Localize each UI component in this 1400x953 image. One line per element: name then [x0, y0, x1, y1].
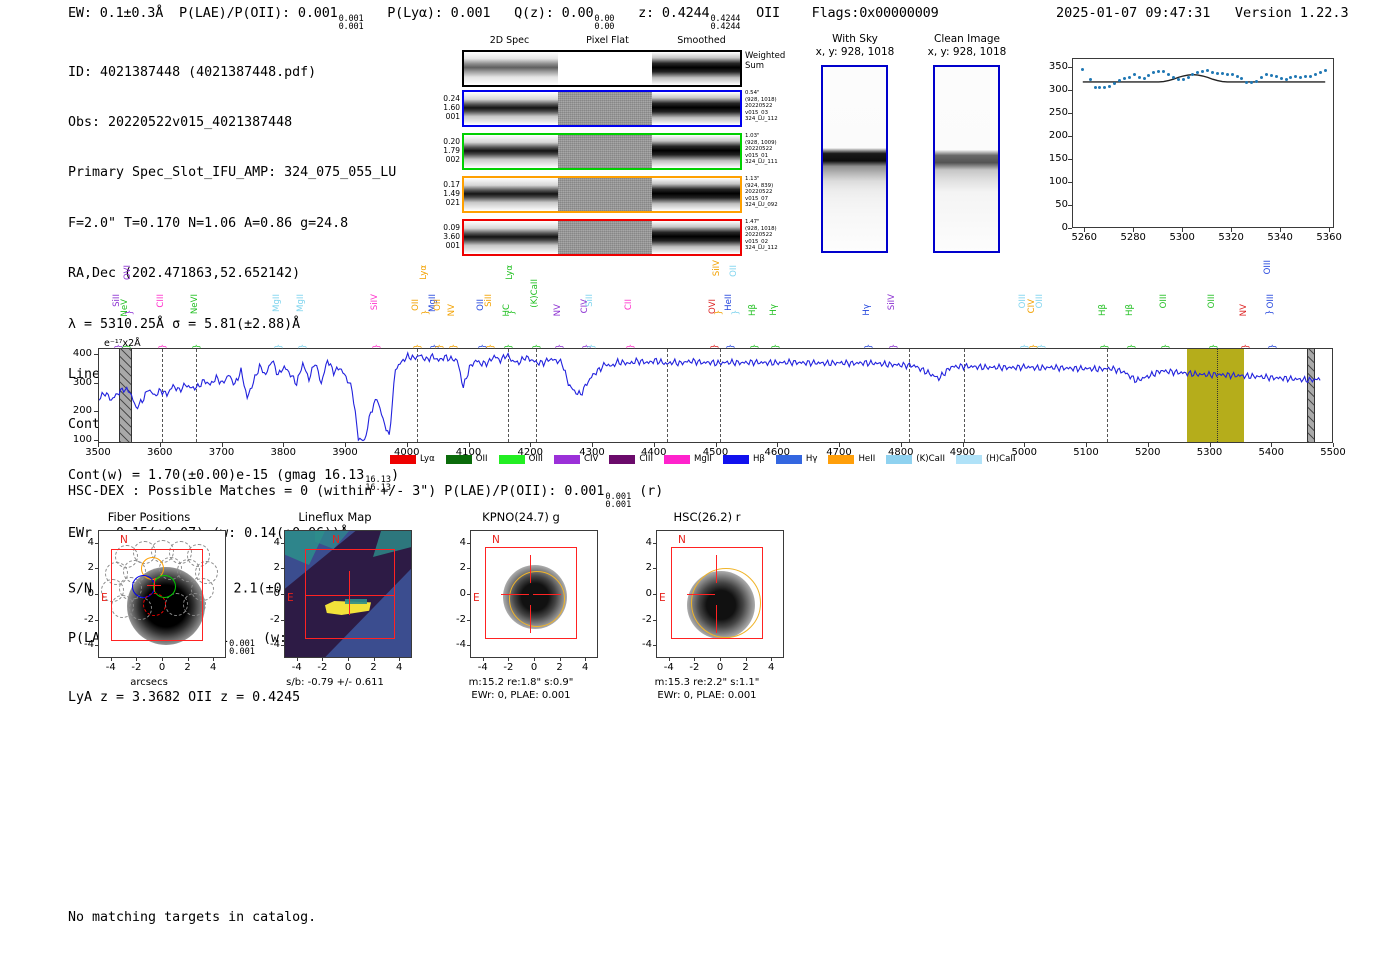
weighted-sum-smoothed [652, 52, 740, 85]
zoom-data-point [1226, 73, 1229, 76]
spectrum-units-label: e⁻¹⁷x2Å [104, 338, 141, 349]
panel-ytick: -2 [440, 614, 466, 625]
emission-line-label: CII [624, 299, 634, 310]
header-qz: Q(z): 0.00 [514, 5, 593, 21]
legend-swatch [609, 455, 635, 464]
emission-line-brace: { [433, 344, 442, 350]
info-id: ID: 4021387448 (4021387448.pdf) [68, 65, 399, 82]
zoom-data-point [1089, 78, 1092, 81]
zoom-ytick: 50 [1038, 199, 1068, 210]
legend-label: CIV [584, 454, 598, 464]
fiber-left-labels-2: 0.201.79002 [432, 138, 460, 164]
legend-item: OIII [499, 454, 543, 464]
emission-line-brace: { [1160, 344, 1169, 350]
legend-label: OIII [529, 454, 543, 464]
zoom-xtick: 5360 [1311, 232, 1347, 243]
emission-line-label: OIII [1035, 294, 1045, 308]
clean-image-title: Clean Image x, y: 928, 1018 [912, 33, 1022, 58]
panel-ytick: 4 [68, 537, 94, 548]
emission-line-label: OIII [1263, 260, 1273, 274]
fiber-1-2dspec [464, 92, 558, 125]
version-label: Version 1.22.3 [1235, 5, 1349, 21]
hsc-aperture-circle [691, 568, 761, 638]
fiber-2-pixelflat [558, 135, 652, 168]
zoom-data-point [1280, 77, 1283, 80]
panel-xtick: 4 [385, 662, 413, 673]
info-primary-spec-slot: Primary Spec_Slot_IFU_AMP: 324_075_055_L… [68, 165, 399, 182]
fiber-row-3 [462, 176, 742, 213]
emission-line-label: Hγ [862, 304, 872, 316]
header-summary-line: EW: 0.1±0.3Å P(LAE)/P(OII): 0.0010.0010.… [68, 5, 939, 31]
zoom-data-point [1211, 71, 1214, 74]
zoom-data-point [1108, 85, 1111, 88]
emission-line-label: MgII [272, 294, 282, 312]
emission-line-label: OII [433, 299, 443, 311]
fiber-2-2dspec [464, 135, 558, 168]
panel-xtick: 2 [174, 662, 202, 673]
panel-ytick: 4 [626, 537, 652, 548]
zoom-data-point [1270, 74, 1273, 77]
emission-line-brace: { [724, 344, 733, 350]
zoom-data-point [1187, 76, 1190, 79]
panel-kpno-g: KPNO(24.7) g N E m:15.2 re:1.8" s:0.9" E… [432, 510, 610, 740]
hscdex-post: (r) [631, 484, 663, 499]
emission-line-brace: { [156, 344, 165, 350]
spectrum-xtick: 5500 [1313, 447, 1353, 458]
zoom-data-point [1162, 70, 1165, 73]
fiber-right-labels-3: 1.13"(924, 839)20220522v015_07324_LU_092 [745, 176, 795, 209]
legend-label: CIII [639, 454, 653, 464]
legend-item: (K)CaII [886, 454, 945, 464]
zoom-xtick: 5320 [1213, 232, 1249, 243]
legend-item: Hγ [776, 454, 818, 464]
spectrum-xtick: 5300 [1190, 447, 1230, 458]
emission-line-brace: { [484, 344, 493, 350]
emission-line-label: SiII [585, 294, 595, 307]
emission-line-brace: { [769, 344, 778, 350]
zoom-data-point [1167, 73, 1170, 76]
legend-label: (K)CaII [916, 454, 945, 464]
emission-line-label: OVI [123, 265, 133, 280]
panel-ytick: -2 [626, 614, 652, 625]
zoom-data-point [1260, 76, 1263, 79]
panel-ytick: 0 [440, 588, 466, 599]
hscdex-text: HSC-DEX : Possible Matches = 0 (within +… [68, 484, 604, 499]
emission-line-label: Hγ [769, 304, 779, 316]
zoom-data-point [1133, 73, 1136, 76]
legend-label: Hβ [753, 454, 765, 464]
hsc-dex-match-line: HSC-DEX : Possible Matches = 0 (within +… [68, 484, 663, 509]
north-label: N [332, 534, 340, 546]
fiber-3-pixelflat [558, 178, 652, 211]
panel-ytick: 0 [626, 588, 652, 599]
emission-line-brace: { [862, 344, 871, 350]
emission-line-label: NV [447, 304, 457, 316]
fiber-right-labels-4: 1.47"(928, 1018)20220522v015_02324_LU_11… [745, 219, 795, 252]
emission-line-brace: { [1036, 344, 1045, 350]
fiber-2-smoothed [652, 135, 740, 168]
footer-line-1: No matching targets in catalog. [68, 909, 316, 926]
panel-ytick: 2 [254, 562, 280, 573]
emission-line-label: Lyα [505, 265, 515, 280]
lineflux-map-plot [284, 530, 412, 658]
zoom-data-point [1138, 76, 1141, 79]
panel-xtick: -4 [469, 662, 497, 673]
fiber-redbox [111, 549, 203, 641]
legend-item: CIII [609, 454, 653, 464]
fiber-right-labels-2: 1.03"(928, 1009)20220522v015_01324_LU_11… [745, 133, 795, 166]
legend-swatch [828, 455, 854, 464]
emission-line-brace: { [506, 310, 515, 316]
legend-item: OII [446, 454, 488, 464]
east-label: E [473, 592, 480, 604]
zoom-data-point [1177, 78, 1180, 81]
spectrum-ytick: 100 [60, 434, 92, 445]
zoom-data-point [1231, 73, 1234, 76]
spectrum-ytick: 400 [60, 348, 92, 359]
emission-line-brace: { [1264, 310, 1273, 316]
panel-ytick: -4 [440, 639, 466, 650]
emission-line-brace: { [553, 344, 562, 350]
timestamp: 2025-01-07 09:47:31 [1056, 5, 1210, 21]
legend-swatch [956, 455, 982, 464]
panel-ytick: 2 [440, 562, 466, 573]
header-z-errors: 0.42440.4244 [710, 15, 740, 31]
north-label: N [120, 534, 128, 546]
zoom-ytick: 0 [1038, 222, 1068, 233]
legend-label: Hγ [806, 454, 818, 464]
emission-line-brace: { [411, 344, 420, 350]
panel-title-pixel-flat: Pixel Flat [560, 35, 655, 46]
emission-line-brace: { [371, 344, 380, 350]
zoom-ytick: 300 [1038, 84, 1068, 95]
fiber-4-pixelflat [558, 221, 652, 254]
emission-line-label: NV [553, 304, 563, 316]
fiber-xlabel: arcsecs [60, 677, 238, 689]
emission-line-label: NeVI [190, 294, 200, 314]
panel-title-2d-spec: 2D Spec [462, 35, 557, 46]
zoomed-spectrum-chart: e⁻¹⁷x2Å 050100150200250300350 5260528053… [1032, 36, 1344, 252]
zoom-ytick: 250 [1038, 107, 1068, 118]
emission-line-label: OIII [1207, 294, 1217, 308]
spectrum-xtick: 5100 [1066, 447, 1106, 458]
zoom-data-point [1309, 75, 1312, 78]
lineflux-caption: s/b: -0.79 +/- 0.611 [246, 677, 424, 689]
header-qz-errors: 0.000.00 [594, 15, 614, 31]
fiber-4-2dspec [464, 221, 558, 254]
zoom-data-point [1081, 68, 1084, 71]
zoom-ytick: 100 [1038, 176, 1068, 187]
panel-ytick: 4 [254, 537, 280, 548]
panel-xtick: 0 [706, 662, 734, 673]
spectrum-xtick: 5400 [1251, 447, 1291, 458]
weighted-sum-pixelflat [558, 52, 652, 85]
east-label: E [287, 592, 294, 604]
emission-line-label: OIII [1266, 294, 1276, 308]
legend-swatch [723, 455, 749, 464]
legend-item: CIV [554, 454, 598, 464]
legend-label: HeII [858, 454, 875, 464]
emission-line-label: Lyα [419, 265, 429, 280]
info-obs: Obs: 20220522v015_4021387448 [68, 115, 399, 132]
zoom-data-point [1255, 80, 1258, 83]
legend-label: Lyα [420, 454, 435, 464]
header-z: z: 0.4244 [638, 5, 709, 21]
spectrum-xtick: 3900 [325, 447, 365, 458]
lineflux-map-title: Lineflux Map [246, 510, 424, 524]
hsc-caption-2: EWr: 0, PLAE: 0.001 [618, 690, 796, 702]
panel-ytick: -4 [68, 639, 94, 650]
info-cont-w-post: ) [391, 468, 399, 483]
header-plae-errors: 0.0010.001 [339, 15, 364, 31]
hsc-title: HSC(26.2) r [618, 510, 796, 524]
legend-item: Lyα [390, 454, 435, 464]
hscdex-errors: 0.0010.001 [605, 493, 631, 509]
emission-line-brace: { [530, 344, 539, 350]
panel-ytick: 0 [254, 588, 280, 599]
zoom-ytick: 150 [1038, 153, 1068, 164]
header-ew: EW: 0.1±0.3Å [68, 5, 163, 21]
zoom-data-point [1285, 78, 1288, 81]
legend-swatch [499, 455, 525, 464]
panel-lineflux-map: Lineflux Map N E s/b: -0.79 +/- 0.611 -4… [246, 510, 424, 740]
fiber-4-smoothed [652, 221, 740, 254]
emission-line-brace: { [586, 344, 595, 350]
fiber-3-2dspec [464, 178, 558, 211]
fiber-1-smoothed [652, 92, 740, 125]
legend-item: HeII [828, 454, 875, 464]
zoom-data-point [1275, 75, 1278, 78]
legend-swatch [776, 455, 802, 464]
emission-line-label: SiIV [887, 294, 897, 310]
north-label: N [492, 534, 500, 546]
north-label: N [678, 534, 686, 546]
zoom-ytick: 200 [1038, 130, 1068, 141]
header-flags: Flags:0x00000009 [812, 5, 939, 21]
emission-line-brace: { [624, 344, 633, 350]
legend-label: MgII [694, 454, 712, 464]
2d-spectrum-panels: 2D Spec Pixel Flat Smoothed Weighted Sum… [432, 33, 762, 255]
zoom-data-point [1314, 73, 1317, 76]
panel-xtick: 4 [757, 662, 785, 673]
emission-line-brace: { [123, 310, 132, 316]
header-plya: P(Lyα): 0.001 [387, 5, 490, 21]
zoom-xtick: 5340 [1262, 232, 1298, 243]
panel-ytick: 4 [440, 537, 466, 548]
emission-line-brace: { [448, 344, 457, 350]
emission-line-brace: { [1018, 344, 1027, 350]
emission-line-brace: { [1099, 344, 1108, 350]
zoom-xtick: 5280 [1115, 232, 1151, 243]
panel-ytick: -4 [254, 639, 280, 650]
panel-xtick: 4 [199, 662, 227, 673]
emission-line-brace: { [1267, 344, 1276, 350]
zoom-data-point [1182, 78, 1185, 81]
clean-image [933, 65, 1000, 253]
emission-line-brace: { [712, 310, 721, 316]
emission-line-label: NV [1239, 304, 1249, 316]
emission-line-label: OIII [1159, 294, 1169, 308]
emission-line-brace: { [296, 344, 305, 350]
emission-line-label: HeII [724, 294, 734, 311]
info-observing-conditions: F=2.0" T=0.170 N=1.06 A=0.86 g=24.8 [68, 216, 399, 233]
legend-item: (H)CaII [956, 454, 1016, 464]
fiber-positions-plot [98, 530, 226, 658]
fiber-1-pixelflat [558, 92, 652, 125]
panel-xtick: 0 [520, 662, 548, 673]
zoom-ytick: 350 [1038, 61, 1068, 72]
panel-xtick: -2 [494, 662, 522, 673]
hsc-plot [656, 530, 784, 658]
zoom-xtick: 5260 [1066, 232, 1102, 243]
emission-line-label: OII [729, 265, 739, 277]
emission-line-brace: { [502, 344, 511, 350]
legend-swatch [390, 455, 416, 464]
panel-xtick: 2 [732, 662, 760, 673]
fiber-left-labels-3: 0.171.49021 [432, 181, 460, 207]
emission-line-label: SiIV [370, 294, 380, 310]
emission-line-brace: { [708, 344, 717, 350]
panel-xtick: 2 [360, 662, 388, 673]
hsc-caption-1: m:15.3 re:2.2" s:1.1" [618, 677, 796, 689]
full-spectrum-chart: e⁻¹⁷x2Å 100200300400 3500360037003800390… [60, 268, 1350, 468]
emission-line-brace: { [887, 344, 896, 350]
panel-ytick: 2 [626, 562, 652, 573]
spectrum-ytick: 300 [60, 377, 92, 388]
spectrum-ytick: 200 [60, 405, 92, 416]
legend-swatch [664, 455, 690, 464]
legend-label: (H)CaII [986, 454, 1016, 464]
panel-ytick: -4 [626, 639, 652, 650]
spectrum-xtick: 3700 [202, 447, 242, 458]
fiber-row-2 [462, 133, 742, 170]
emission-line-brace: { [190, 344, 199, 350]
panel-xtick: 0 [148, 662, 176, 673]
panel-xtick: 0 [334, 662, 362, 673]
emission-line-label: Hβ [1098, 304, 1108, 316]
emission-line-label: Hβ [1125, 304, 1135, 316]
zoom-data-point [1172, 76, 1175, 79]
panel-xtick: -2 [122, 662, 150, 673]
emission-line-label: MgII [296, 294, 306, 312]
emission-line-label: Hβ [748, 304, 758, 316]
legend-swatch [886, 455, 912, 464]
emission-line-label: CIII [156, 294, 166, 308]
sky-clean-cutouts: With Sky x, y: 928, 1018 Clean Image x, … [800, 33, 1028, 255]
fiber-row-1 [462, 90, 742, 127]
legend-item: MgII [664, 454, 712, 464]
legend-label: OII [476, 454, 488, 464]
panel-ytick: 0 [68, 588, 94, 599]
legend-swatch [446, 455, 472, 464]
zoom-data-point [1118, 79, 1121, 82]
panel-ytick: -2 [254, 614, 280, 625]
panel-fiber-positions: Fiber Positions [60, 510, 238, 740]
cutout-panel-row: Fiber Positions [60, 510, 790, 740]
panel-xtick: -4 [97, 662, 125, 673]
info-cont-w-pre: Cont(w) = 1.70(±0.00)e-15 (gmag 16.13 [68, 468, 364, 483]
emission-line-brace: { [729, 310, 738, 316]
spectrum-xtick: 3800 [263, 447, 303, 458]
panel-xtick: -2 [680, 662, 708, 673]
emission-line-label: (K)CaII [530, 279, 540, 308]
weighted-sum-row [462, 50, 742, 87]
legend-item: Hβ [723, 454, 765, 464]
east-label: E [101, 592, 108, 604]
header-plae: P(LAE)/P(OII): 0.001 [179, 5, 338, 21]
emission-line-brace: { [272, 344, 281, 350]
zoom-data-point [1128, 76, 1131, 79]
footer-message: No matching targets in catalog. Row inte… [68, 875, 316, 953]
kpno-aperture-circle [509, 571, 565, 627]
fiber-right-labels-1: 0.54"(928, 1018)20220522v015_03324_LU_11… [745, 90, 795, 123]
fiber-left-labels-1: 0.241.60001 [432, 95, 460, 121]
emission-line-label: SiII [484, 294, 494, 307]
emission-line-brace: { [749, 344, 758, 350]
panel-ytick: 2 [68, 562, 94, 573]
emission-line-brace: { [1207, 344, 1216, 350]
spectrum-legend: LyαOIIOIIICIVCIIIMgIIHβHγHeII(K)CaII(H)C… [390, 454, 1027, 464]
zoom-plot-area [1072, 58, 1334, 228]
header-timestamp-version: 2025-01-07 09:47:31 Version 1.22.3 [1056, 5, 1349, 21]
zoom-data-point [1143, 77, 1146, 80]
panel-xtick: 4 [571, 662, 599, 673]
kpno-caption-2: EWr: 0, PLAE: 0.001 [432, 690, 610, 702]
with-sky-image [821, 65, 888, 253]
panel-xtick: -4 [655, 662, 683, 673]
spectrum-plot-area [98, 348, 1333, 443]
elixer-report-page: EW: 0.1±0.3Å P(LAE)/P(OII): 0.0010.0010.… [0, 0, 1400, 953]
panel-title-smoothed: Smoothed [654, 35, 749, 46]
weighted-sum-2dspec [464, 52, 558, 85]
east-label: E [659, 592, 666, 604]
zoom-xtick: 5300 [1164, 232, 1200, 243]
fiber-3-smoothed [652, 178, 740, 211]
spectrum-xtick: 3600 [140, 447, 180, 458]
emission-line-brace: { [1126, 344, 1135, 350]
panel-xtick: -2 [308, 662, 336, 673]
kpno-caption-1: m:15.2 re:1.8" s:0.9" [432, 677, 610, 689]
panel-ytick: -2 [68, 614, 94, 625]
fiber-row-4 [462, 219, 742, 256]
fiber-positions-title: Fiber Positions [60, 510, 238, 524]
fiber-left-labels-4: 0.093.60001 [432, 224, 460, 250]
panel-hsc-r: HSC(26.2) r N E m:15.3 re:2.2" s:1.1" EW… [618, 510, 796, 740]
header-z-species: OII [756, 5, 780, 21]
emission-line-brace: { [1239, 344, 1248, 350]
weighted-sum-label: Weighted Sum [745, 51, 785, 71]
kpno-plot [470, 530, 598, 658]
panel-xtick: -4 [283, 662, 311, 673]
kpno-title: KPNO(24.7) g [432, 510, 610, 524]
spectrum-xtick: 5200 [1128, 447, 1168, 458]
panel-xtick: 2 [546, 662, 574, 673]
zoom-data-point [1094, 86, 1097, 89]
spectrum-xtick: 3500 [78, 447, 118, 458]
emission-line-label: SiIV [712, 260, 722, 276]
zoom-data-point [1236, 75, 1239, 78]
with-sky-title: With Sky x, y: 928, 1018 [800, 33, 910, 58]
legend-swatch [554, 455, 580, 464]
